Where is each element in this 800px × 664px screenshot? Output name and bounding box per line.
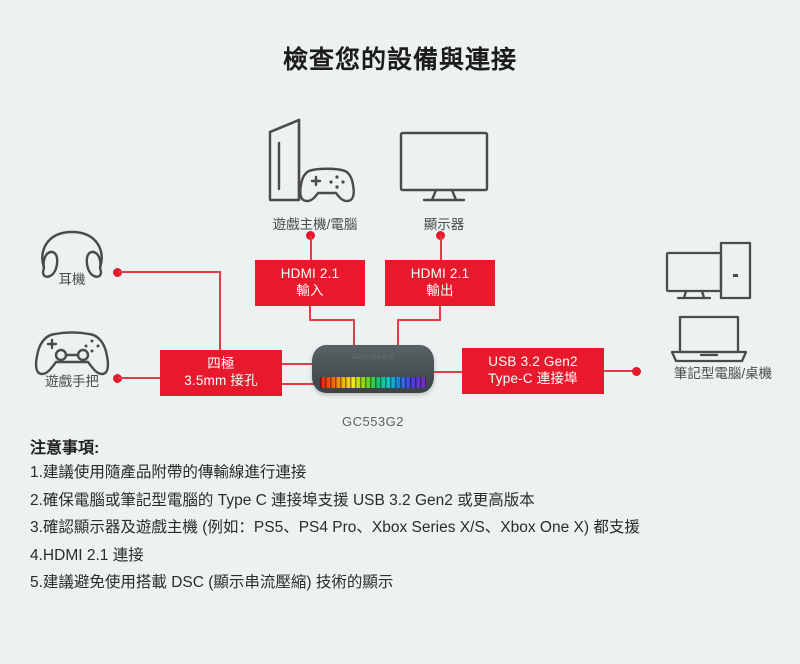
headset-line-h bbox=[118, 271, 221, 273]
hdmi-out-drop-line bbox=[439, 306, 441, 320]
hdmi-out-line1: HDMI 2.1 bbox=[411, 266, 470, 283]
device-brand-text: AVerMedia bbox=[312, 354, 434, 361]
headset-line-v bbox=[219, 271, 221, 350]
hdmi-in-box[interactable]: HDMI 2.1 輸入 bbox=[255, 260, 365, 306]
page-title: 檢查您的設備與連接 bbox=[0, 40, 800, 76]
audio-jack-line2: 3.5mm 接孔 bbox=[184, 373, 258, 390]
usb-line2: Type-C 連接埠 bbox=[488, 371, 578, 388]
computer-label: 筆記型電腦/桌機 bbox=[648, 362, 798, 382]
computer-connection-dot bbox=[632, 367, 641, 376]
note-item: 2.確保電腦或筆記型電腦的 Type C 連接埠支援 USB 3.2 Gen2 … bbox=[30, 493, 770, 509]
diagram-page: 檢查您的設備與連接 遊戲主機/電腦 顯示器 bbox=[0, 0, 800, 664]
hdmi-out-elbow-line bbox=[397, 319, 441, 321]
notes-section: 注意事項: 1.建議使用隨產品附帶的傳輸線進行連接 2.確保電腦或筆記型電腦的 … bbox=[30, 434, 770, 603]
hdmi-in-line2: 輸入 bbox=[296, 283, 323, 300]
note-item: 5.建議避免使用搭載 DSC (顯示串流壓縮) 技術的顯示 bbox=[30, 575, 770, 591]
console-label: 遊戲主機/電腦 bbox=[240, 213, 390, 233]
device-model-label: GC553G2 bbox=[303, 414, 443, 429]
gamepad-line bbox=[118, 377, 163, 379]
note-item: 1.建議使用隨產品附帶的傳輸線進行連接 bbox=[30, 465, 770, 481]
desktop-pc-icon bbox=[664, 240, 754, 302]
audio-jack-line1: 四極 bbox=[207, 356, 234, 373]
hdmi-out-box[interactable]: HDMI 2.1 輸出 bbox=[385, 260, 495, 306]
rgb-light-strip bbox=[320, 377, 426, 388]
hdmi-in-line1: HDMI 2.1 bbox=[281, 266, 340, 283]
monitor-to-hdmi-out-line bbox=[440, 236, 442, 260]
jack-to-device-line-bottom bbox=[282, 383, 314, 385]
headset-label: 耳機 bbox=[29, 268, 115, 288]
capture-device: AVerMedia bbox=[312, 345, 434, 393]
hdmi-out-line2: 輸出 bbox=[426, 283, 453, 300]
console-to-hdmi-in-line bbox=[310, 236, 312, 260]
notes-heading: 注意事項: bbox=[30, 434, 770, 458]
game-console-icon bbox=[265, 115, 365, 205]
hdmi-in-drop-line bbox=[309, 306, 311, 320]
jack-to-device-line-top bbox=[282, 363, 314, 365]
usb-line1: USB 3.2 Gen2 bbox=[488, 354, 577, 371]
hdmi-in-elbow-line bbox=[309, 319, 355, 321]
monitor-label: 顯示器 bbox=[374, 213, 514, 233]
usb-port-box[interactable]: USB 3.2 Gen2 Type-C 連接埠 bbox=[462, 348, 604, 394]
usb-to-computer-line bbox=[604, 370, 633, 372]
monitor-icon bbox=[398, 130, 490, 206]
note-item: 3.確認顯示器及遊戲主機 (例如：PS5、PS4 Pro、Xbox Series… bbox=[30, 520, 770, 536]
laptop-icon bbox=[668, 314, 750, 364]
device-to-usb-line bbox=[434, 371, 464, 373]
audio-jack-box[interactable]: 四極 3.5mm 接孔 bbox=[160, 350, 282, 396]
note-item: 4.HDMI 2.1 連接 bbox=[30, 548, 770, 564]
gamepad-label: 遊戲手把 bbox=[22, 370, 122, 390]
